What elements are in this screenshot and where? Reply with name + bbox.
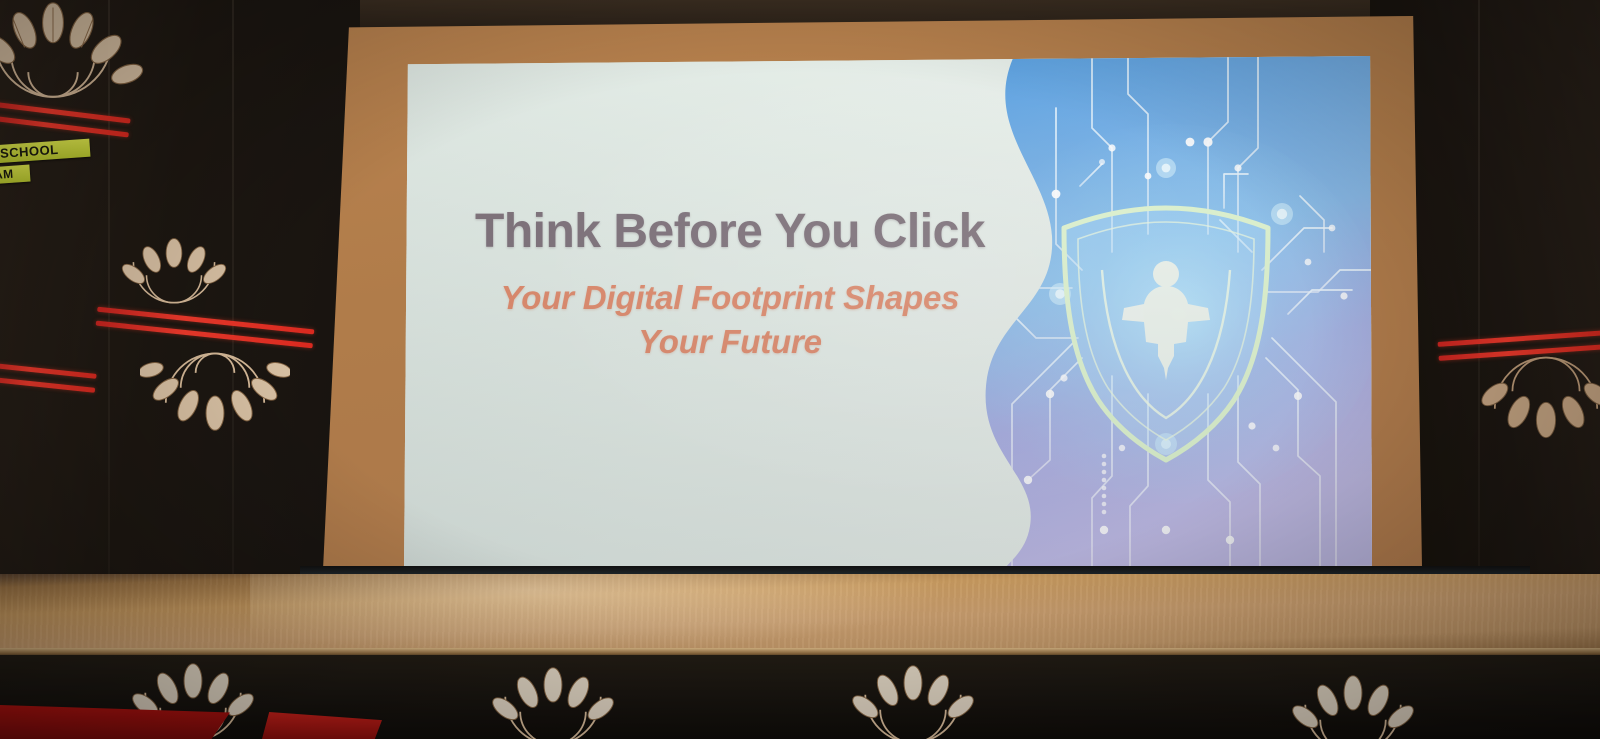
slide-subtitle-line-2: Your Future	[430, 320, 1030, 365]
auditorium-scene: SCHOOL AM	[0, 0, 1600, 739]
floor-sheen	[250, 574, 950, 654]
presentation-slide: Think Before You Click Your Digital Foot…	[404, 56, 1372, 572]
mandala-motif	[838, 662, 988, 739]
mandala-motif	[0, 0, 148, 99]
stage-floor	[0, 574, 1600, 654]
mandala-motif	[1278, 672, 1428, 739]
slide-subtitle: Your Digital Footprint Shapes Your Futur…	[430, 276, 1030, 365]
slide-title: Think Before You Click	[430, 206, 1030, 258]
slide-subtitle-line-1: Your Digital Footprint Shapes	[430, 276, 1030, 321]
school-banner-label-second: AM	[0, 165, 31, 185]
mandala-motif	[108, 232, 240, 304]
mandala-motif	[140, 352, 290, 434]
mandala-motif	[478, 664, 628, 739]
mandala-motif	[1466, 356, 1600, 444]
projection-screen[interactable]: Think Before You Click Your Digital Foot…	[404, 56, 1372, 572]
slide-text-block: Think Before You Click Your Digital Foot…	[430, 206, 1030, 365]
